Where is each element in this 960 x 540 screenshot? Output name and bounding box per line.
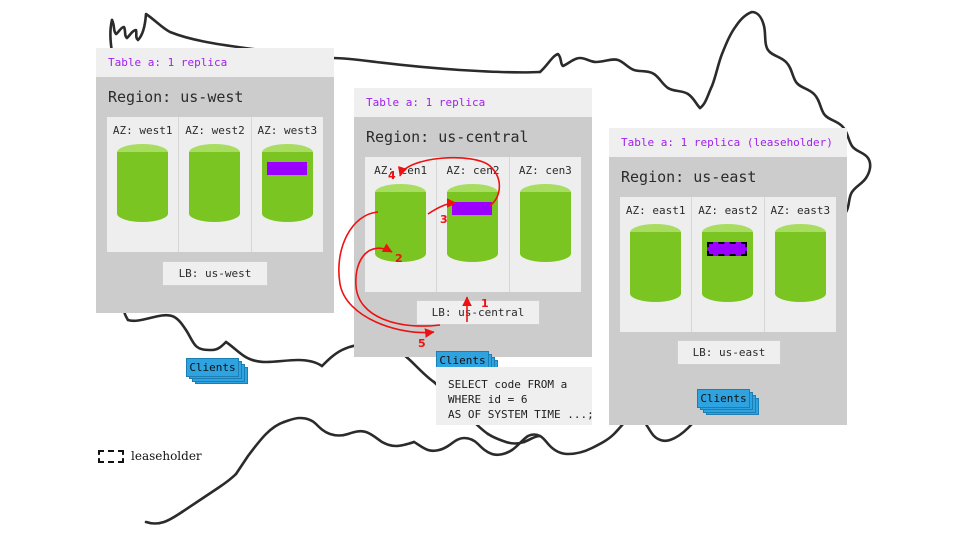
az-cell-cen1[interactable]: AZ: cen1 — [365, 157, 436, 292]
dashed-rectangle-icon — [98, 450, 124, 463]
step-number-4: 4 — [388, 169, 396, 182]
load-balancer-us-west[interactable]: LB: us-west — [162, 261, 268, 286]
node-cylinder-east1[interactable] — [630, 224, 681, 302]
az-cell-west1[interactable]: AZ: west1 — [107, 117, 178, 252]
az-cell-west3[interactable]: AZ: west3 — [251, 117, 323, 252]
az-strip-us-east: AZ: east1 AZ: east2 — [620, 197, 836, 332]
az-label-cen3: AZ: cen3 — [519, 164, 572, 177]
az-label-east1: AZ: east1 — [626, 204, 686, 217]
clients-stack-us-west[interactable]: Clients — [186, 358, 248, 384]
region-card-us-west: Table a: 1 replica Region: us-west AZ: w… — [96, 48, 334, 313]
region-body-us-central: Region: us-central AZ: cen1 AZ: cen2 — [354, 117, 592, 357]
region-body-us-east: Region: us-east AZ: east1 AZ: east2 — [609, 157, 847, 425]
clients-label: Clients — [189, 361, 235, 374]
region-card-us-east: Table a: 1 replica (leaseholder) Region:… — [609, 128, 847, 425]
az-label-west3: AZ: west3 — [258, 124, 318, 137]
node-cylinder-cen2[interactable] — [447, 184, 498, 262]
load-balancer-label: LB: us-west — [179, 267, 252, 280]
clients-face[interactable]: Clients — [697, 389, 750, 408]
replica-marker-cen2[interactable] — [452, 202, 492, 215]
cylinder-bottom — [189, 205, 240, 222]
step-number-5: 5 — [418, 337, 426, 350]
sql-query-panel: SELECT code FROM a WHERE id = 6 AS OF SY… — [436, 367, 592, 425]
node-cylinder-east3[interactable] — [775, 224, 826, 302]
az-label-cen1: AZ: cen1 — [374, 164, 427, 177]
az-label-east3: AZ: east3 — [771, 204, 831, 217]
az-label-cen2: AZ: cen2 — [447, 164, 500, 177]
clients-label: Clients — [439, 354, 485, 367]
clients-face[interactable]: Clients — [186, 358, 239, 377]
legend-leaseholder: leaseholder — [98, 449, 202, 463]
step-number-1: 1 — [481, 297, 489, 310]
az-label-west1: AZ: west1 — [113, 124, 173, 137]
node-cylinder-west2[interactable] — [189, 144, 240, 222]
clients-stack-us-east[interactable]: Clients — [697, 389, 759, 415]
az-cell-east1[interactable]: AZ: east1 — [620, 197, 691, 332]
legend-label: leaseholder — [131, 449, 202, 463]
cylinder-bottom — [262, 205, 313, 222]
clients-label: Clients — [700, 392, 746, 405]
az-cell-east3[interactable]: AZ: east3 — [764, 197, 836, 332]
load-balancer-label: LB: us-central — [432, 306, 525, 319]
region-title-us-west: Region: us-west — [96, 77, 334, 117]
region-header-label-us-central: Table a: 1 replica — [354, 88, 592, 117]
az-strip-us-central: AZ: cen1 AZ: cen2 — [365, 157, 581, 292]
region-title-us-central: Region: us-central — [354, 117, 592, 157]
replica-marker-leaseholder-east2[interactable] — [707, 242, 747, 256]
az-label-east2: AZ: east2 — [698, 204, 758, 217]
az-cell-west2[interactable]: AZ: west2 — [178, 117, 250, 252]
node-cylinder-cen3[interactable] — [520, 184, 571, 262]
cylinder-bottom — [520, 245, 571, 262]
step-number-2: 2 — [395, 252, 403, 265]
cylinder-bottom — [630, 285, 681, 302]
az-cell-cen3[interactable]: AZ: cen3 — [509, 157, 581, 292]
diagram-canvas: Table a: 1 replica Region: us-west AZ: w… — [0, 0, 960, 540]
load-balancer-label: LB: us-east — [693, 346, 766, 359]
region-header-label-us-east: Table a: 1 replica (leaseholder) — [609, 128, 847, 157]
node-cylinder-west3[interactable] — [262, 144, 313, 222]
cylinder-bottom — [117, 205, 168, 222]
az-cell-east2[interactable]: AZ: east2 — [691, 197, 763, 332]
az-label-west2: AZ: west2 — [185, 124, 245, 137]
cylinder-bottom — [775, 285, 826, 302]
replica-marker-west3[interactable] — [267, 162, 307, 175]
node-cylinder-west1[interactable] — [117, 144, 168, 222]
load-balancer-us-central[interactable]: LB: us-central — [416, 300, 540, 325]
region-card-us-central: Table a: 1 replica Region: us-central AZ… — [354, 88, 592, 357]
region-header-label-us-west: Table a: 1 replica — [96, 48, 334, 77]
node-cylinder-east2[interactable] — [702, 224, 753, 302]
node-cylinder-cen1[interactable] — [375, 184, 426, 262]
cylinder-bottom — [447, 245, 498, 262]
load-balancer-us-east[interactable]: LB: us-east — [677, 340, 781, 365]
az-strip-us-west: AZ: west1 AZ: west2 — [107, 117, 323, 252]
region-title-us-east: Region: us-east — [609, 157, 847, 197]
step-number-3: 3 — [440, 213, 448, 226]
cylinder-bottom — [702, 285, 753, 302]
region-body-us-west: Region: us-west AZ: west1 AZ: west2 — [96, 77, 334, 313]
